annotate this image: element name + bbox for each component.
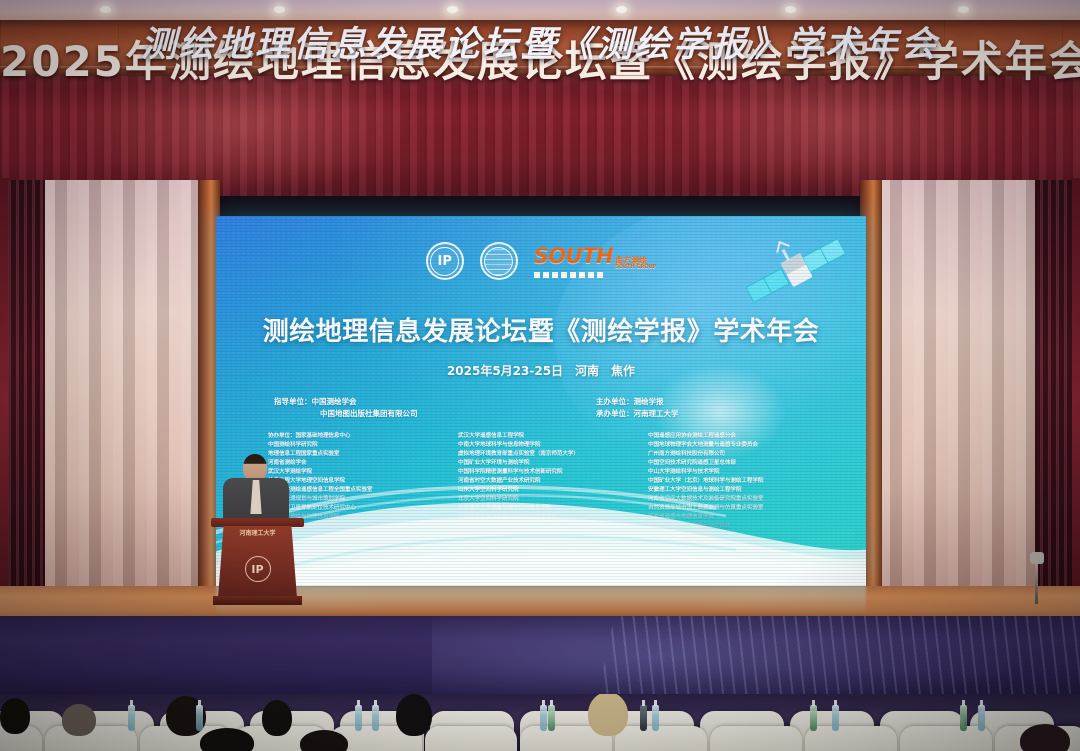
water-bottle: [810, 705, 817, 731]
audience-head: [396, 694, 432, 736]
logo-row: IP SOUTH 南方测绘 SOUTH GROUP: [216, 242, 866, 280]
curtain-glow-right: [670, 76, 1010, 196]
podium-with-speaker: 河南理工大学 IP: [205, 452, 310, 612]
downlight: [616, 6, 627, 13]
guide-units-line1: 指导单位：中国测绘学会: [274, 396, 418, 408]
downlight: [100, 6, 111, 13]
globe-logo-glyph: [484, 247, 513, 276]
south-logo-dots: [534, 272, 603, 278]
water-bottle: [372, 705, 379, 731]
led-main-title: 测绘地理信息发展论坛暨《测绘学报》学术年会: [216, 311, 866, 348]
red-curtain-backdrop: [0, 76, 1080, 196]
podium-base: [213, 596, 302, 605]
microphone-icon: [1030, 552, 1044, 564]
downlight: [447, 6, 458, 13]
pleated-curtain-right: [880, 180, 1035, 620]
wave-graphic: [216, 436, 866, 586]
host-units-block: 主办单位：测绘学报 承办单位：河南理工大学: [596, 396, 679, 419]
audience-head: [588, 694, 628, 736]
audience-chair: [805, 726, 897, 751]
water-bottle: [128, 705, 135, 731]
podium-top: [211, 518, 304, 527]
hpu-logo-glyph: IP: [430, 247, 459, 276]
water-bottle: [548, 705, 555, 731]
south-logo: SOUTH 南方测绘 SOUTH GROUP: [534, 244, 657, 279]
hpu-logo-icon: IP: [426, 242, 464, 280]
water-bottle: [832, 705, 839, 731]
downlight: [785, 6, 796, 13]
audience-area: [0, 694, 1080, 751]
led-date-location: 2025年5月23-25日 河南 焦作: [216, 362, 866, 379]
audience-head: [1020, 724, 1070, 751]
bottom-banner-title: 测绘地理信息发展论坛暨《测绘学报》学术年会: [0, 16, 1080, 67]
podium-label: 河南理工大学: [218, 528, 297, 537]
host-unit-line: 主办单位：测绘学报: [596, 396, 679, 408]
downlight: [274, 6, 285, 13]
audience-chair: [615, 726, 707, 751]
south-wordmark: SOUTH: [534, 244, 613, 268]
south-cn-line2: SOUTH GROUP: [615, 265, 656, 270]
water-bottle: [652, 705, 659, 731]
water-bottle: [978, 705, 985, 731]
stage-reflection: [216, 586, 866, 616]
audience-chair: [710, 726, 802, 751]
water-bottle: [640, 705, 647, 731]
podium-emblem-icon: IP: [245, 556, 271, 582]
microphone-stand: [1035, 560, 1038, 604]
podium-body: 河南理工大学 IP: [218, 526, 297, 598]
pleated-curtain-left: [45, 180, 200, 620]
stage-front-banner: [0, 616, 1080, 698]
dark-drape-left: [8, 180, 48, 620]
water-bottle: [960, 705, 967, 731]
banner-swoosh: [588, 616, 1080, 698]
globe-logo-icon: [480, 242, 518, 280]
water-bottle: [355, 705, 362, 731]
water-bottle: [540, 705, 547, 731]
audience-head: [262, 700, 292, 736]
organizer-unit-line: 承办单位：河南理工大学: [596, 408, 679, 420]
audience-head: [0, 698, 30, 734]
audience-head: [62, 704, 96, 736]
audience-head: [200, 728, 254, 751]
downlight: [958, 6, 969, 13]
water-bottle: [196, 705, 203, 731]
audience-head: [300, 730, 348, 751]
curtain-glow-left: [70, 76, 410, 196]
audience-chair: [425, 726, 517, 751]
guide-units-line2: 中国地图出版社集团有限公司: [274, 408, 418, 420]
guide-units-block: 指导单位：中国测绘学会 中国地图出版社集团有限公司: [274, 396, 418, 419]
conference-photo: 2025年测绘地理信息发展论坛暨《测绘学报》学术年会: [0, 0, 1080, 751]
led-screen: IP SOUTH 南方测绘 SOUTH GROUP 测绘地理信息发展论坛暨《测绘…: [216, 216, 866, 586]
